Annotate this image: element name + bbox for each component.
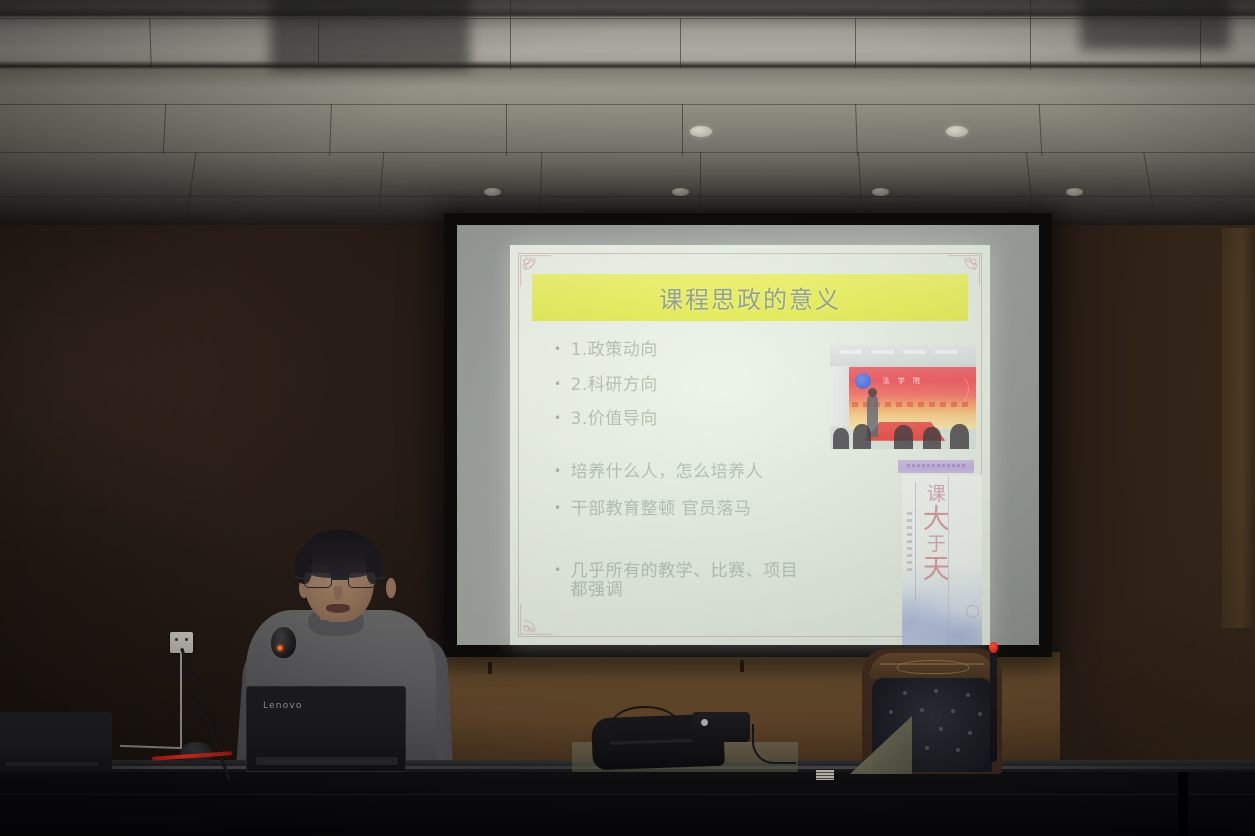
calligraphy-char: 天 [923, 556, 950, 583]
presentation-slide: 课程思政的意义 • 1.政策动向 • 2.科研方向 • [510, 245, 990, 645]
presenter-ear [386, 578, 396, 598]
law-school-emblem-icon [855, 373, 871, 389]
slide-photo-law-school: 法 学 院 [830, 345, 976, 449]
chair-microphone-led [989, 642, 998, 653]
desk-front-panel [0, 772, 1255, 836]
slide-purple-banner [898, 460, 974, 473]
desk-panel-gap [1178, 772, 1188, 836]
microphone-indicator-led [277, 645, 283, 651]
power-adapter[interactable] [692, 712, 750, 742]
bullet-marker-icon: • [554, 410, 562, 427]
bullet-marker-icon: • [554, 341, 562, 358]
lecture-hall-scene: 课程思政的意义 • 1.政策动向 • 2.科研方向 • [0, 0, 1255, 836]
slide-title: 课程思政的意义 [659, 280, 841, 315]
equipment-label [816, 770, 834, 780]
laptop-brand-label: Lenovo [263, 701, 303, 711]
calligraphy-char: 于 [927, 535, 946, 554]
list-item-label: 2.科研方向 [571, 376, 658, 395]
list-item: • 3.价值导向 [554, 410, 814, 429]
presenter-nose [334, 586, 342, 600]
microphone-icon [271, 627, 296, 658]
list-item-label: 3.价值导向 [571, 410, 658, 429]
bullet-marker-icon: • [554, 562, 562, 579]
slide-title-bar: 课程思政的意义 [532, 274, 968, 321]
list-item: • 2.科研方向 [554, 376, 814, 395]
ceiling-light [946, 126, 968, 137]
presenter-mouth [326, 604, 350, 613]
slide-book-cover: 课 大 于 天 [902, 475, 982, 645]
bullet-marker-icon: • [554, 376, 562, 393]
laptop-keyboard-edge [256, 757, 398, 765]
projection-screen: 课程思政的意义 • 1.政策动向 • 2.科研方向 • [444, 213, 1052, 657]
list-item: • 培养什么人，怎么培养人 [554, 463, 814, 482]
second-laptop[interactable] [0, 712, 112, 772]
wall-right-panel [1222, 228, 1255, 628]
list-item-label: 培养什么人，怎么培养人 [571, 463, 764, 482]
list-item-label: 干部教育整顿 官员落马 [571, 500, 752, 519]
list-item-label: 1.政策动向 [571, 341, 658, 360]
ornate-chair[interactable] [862, 648, 1002, 774]
ceiling-light [672, 188, 689, 196]
book-cover-calligraphy: 课 大 于 天 [923, 485, 950, 583]
bullet-marker-icon: • [554, 463, 562, 480]
chair-crest-carving [870, 653, 994, 679]
ceiling [0, 0, 1255, 232]
screen-matte: 课程思政的意义 • 1.政策动向 • 2.科研方向 • [457, 225, 1039, 645]
slide-bullet-list: • 1.政策动向 • 2.科研方向 • 3.价值导向 [554, 341, 814, 600]
seal-icon [966, 605, 979, 618]
ceiling-light [1066, 188, 1083, 196]
cable-run [752, 724, 796, 764]
list-item-label: 几乎所有的教学、比赛、项目都强调 [571, 562, 814, 599]
list-item: • 1.政策动向 [554, 341, 814, 360]
list-item: • 几乎所有的教学、比赛、项目都强调 [554, 562, 814, 599]
coiled-cable [612, 706, 678, 740]
desk-seam [0, 794, 1255, 795]
chair-microphone [990, 646, 997, 762]
ceiling-light [872, 188, 889, 196]
calligraphy-char: 大 [923, 506, 950, 533]
outlet-cable [180, 652, 182, 748]
calligraphy-char: 课 [927, 485, 946, 504]
ceiling-light [690, 126, 712, 137]
slide-photo-backdrop-text: 法 学 院 [883, 376, 923, 386]
presenter-hair [298, 530, 380, 578]
list-item: • 干部教育整顿 官员落马 [554, 500, 814, 519]
corner-ornament-icon [519, 602, 553, 636]
bullet-marker-icon: • [554, 500, 562, 517]
ceiling-light [484, 188, 501, 196]
